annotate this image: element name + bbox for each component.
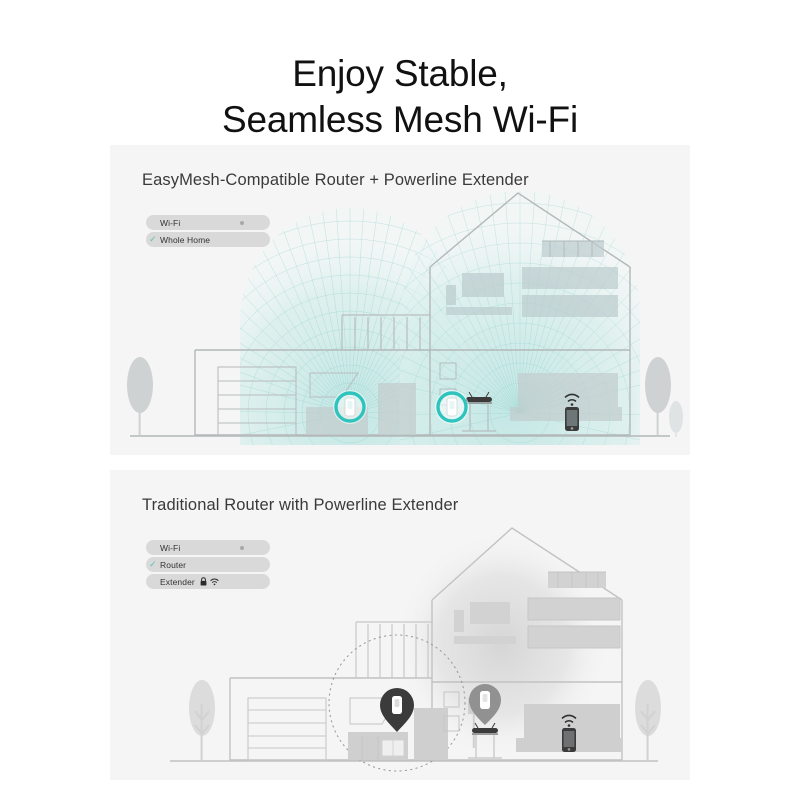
bush-right [669, 401, 683, 437]
legend-item-wifi: ✓ Wi-Fi [146, 215, 270, 230]
kitchen-furniture [348, 708, 448, 760]
panel-traditional-title: Traditional Router with Powerline Extend… [142, 495, 458, 515]
kitchen-outline [310, 373, 358, 397]
footer-spacer [0, 780, 800, 800]
lock-icon [200, 577, 207, 586]
legend-marker-none: ✓ [146, 543, 160, 552]
illustration-traditional-house [110, 470, 690, 780]
kitchen-sink [382, 740, 404, 756]
legend-item-extender: ✓ Extender [146, 574, 270, 589]
status-dot-icon [240, 546, 244, 550]
bedroom-shelf-outline [528, 572, 620, 648]
coverage-zone-left [329, 635, 465, 771]
wifi-signal-icon [566, 394, 579, 405]
legend-label: Wi-Fi [160, 218, 180, 228]
router-device [468, 723, 502, 758]
illustration-easymesh-house [110, 145, 690, 455]
wall-frames [440, 363, 456, 405]
smartphone-device [562, 728, 576, 752]
coverage-zone-right [397, 533, 607, 757]
tree-left [127, 357, 153, 435]
wall-frames [444, 692, 459, 731]
living-furniture [510, 373, 622, 421]
kitchen-furniture [306, 383, 416, 435]
legend-item-wifi: ✓ Wi-Fi [146, 540, 270, 555]
powerline-extender-left [333, 390, 367, 424]
bedroom-furniture [454, 572, 620, 648]
page-title: Enjoy Stable, Seamless Mesh Wi-Fi [0, 51, 800, 143]
panel-traditional-legend: ✓ Wi-Fi ✓ Router ✓ Extender [146, 540, 270, 591]
bedroom-shelf-outline [542, 241, 604, 257]
bedroom-furniture [446, 241, 618, 317]
garage-door [218, 367, 296, 435]
garage-door [248, 698, 326, 760]
tree-right [645, 357, 671, 435]
tree-right [635, 680, 661, 760]
kitchen-outline [350, 698, 398, 760]
legend-marker-none: ✓ [146, 218, 160, 227]
legend-label: Whole Home [160, 235, 210, 245]
wifi-signal-icon [563, 715, 576, 726]
legend-item-whole-home: ✓ Whole Home [146, 232, 270, 247]
powerline-extender-right [435, 390, 469, 424]
balcony-railing [342, 315, 430, 350]
legend-item-router: ✓ Router [146, 557, 270, 572]
check-icon: ✓ [146, 235, 160, 244]
panel-easymesh-legend: ✓ Wi-Fi ✓ Whole Home [146, 215, 270, 249]
powerline-extender-right [469, 684, 501, 725]
panel-easymesh: EasyMesh-Compatible Router + Powerline E… [110, 145, 690, 455]
powerline-extender-left [380, 688, 414, 732]
page-root: Enjoy Stable, Seamless Mesh Wi-Fi EasyMe… [0, 0, 800, 800]
page-title-line-1: Enjoy Stable, [0, 51, 800, 97]
legend-marker-none: ✓ [146, 577, 160, 586]
panel-traditional: Traditional Router with Powerline Extend… [110, 470, 690, 780]
status-dot-icon [240, 221, 244, 225]
legend-icons [200, 577, 219, 586]
mesh-coverage-dome-right [290, 183, 690, 455]
legend-label: Extender [160, 577, 195, 587]
smartphone-device [565, 407, 579, 431]
router-device [462, 392, 496, 431]
living-furniture [516, 704, 622, 752]
panel-easymesh-title: EasyMesh-Compatible Router + Powerline E… [142, 170, 529, 190]
balcony-railing [356, 622, 432, 678]
tree-left [189, 680, 215, 760]
legend-label: Router [160, 560, 186, 570]
floor-lamp [468, 698, 480, 748]
page-title-line-2: Seamless Mesh Wi-Fi [0, 97, 800, 143]
wifi-icon [210, 578, 219, 586]
legend-label: Wi-Fi [160, 543, 180, 553]
check-icon: ✓ [146, 560, 160, 569]
